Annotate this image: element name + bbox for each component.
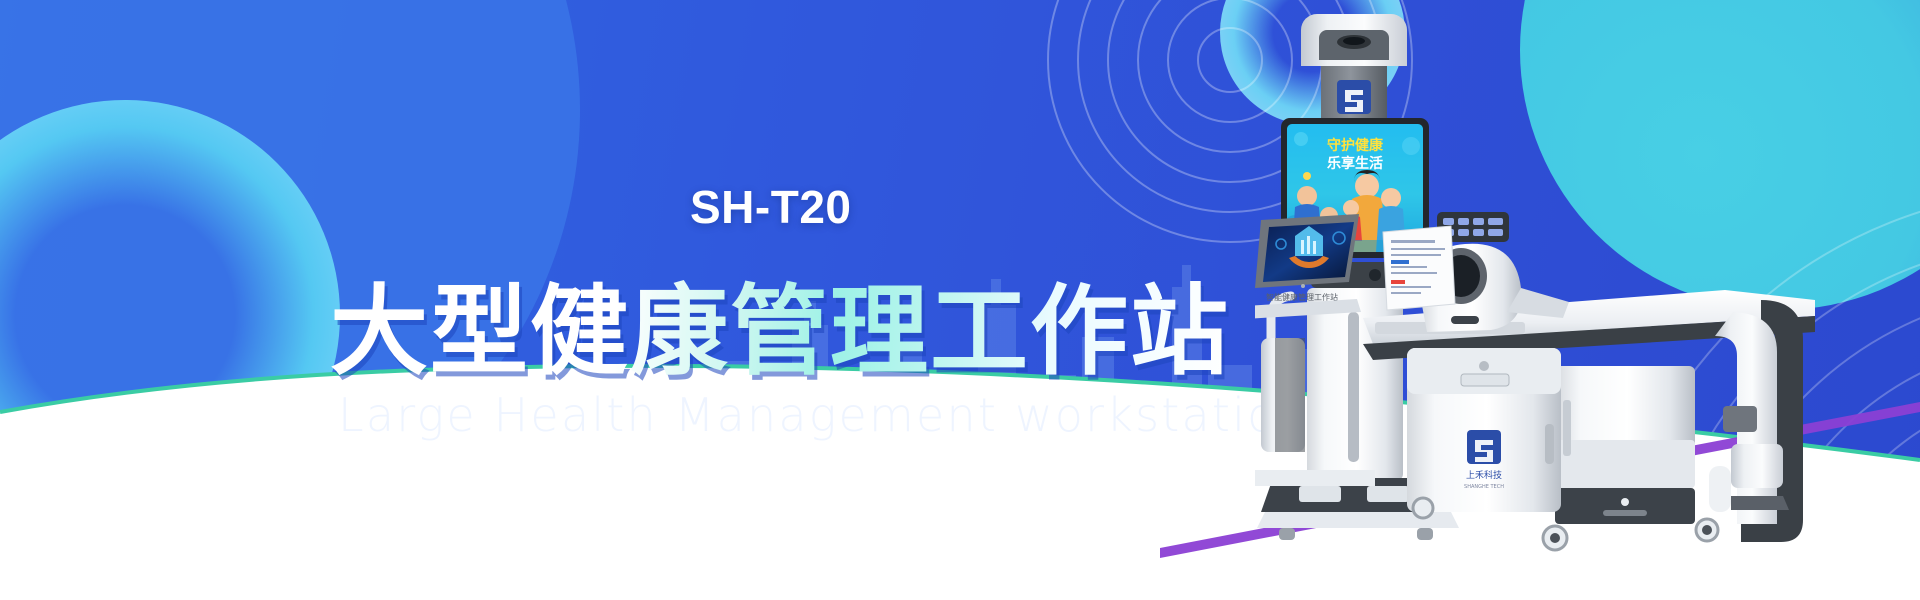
kiosk-ad-line2: 乐享生活 [1327,155,1383,172]
caster-wheel [1413,498,1433,518]
kiosk-ad-line1: 守护健康 [1327,137,1384,154]
laptop-bezel-label: 智能健康管理工作站 [1266,292,1338,302]
cabinet-with-logo: 上禾科技 SHANGHE TECH [1407,348,1561,512]
desk-cabinet [1555,366,1695,524]
printed-report-sheet [1383,226,1455,310]
model-code: SH-T20 [690,180,851,234]
product-hero-banner: SH-T20 大型健康管理工作站 Large Health Management… [0,0,1920,600]
cabinet-brand-name: 上禾科技 [1466,469,1502,481]
headline-text-block: SH-T20 大型健康管理工作站 Large Health Management… [0,0,1100,600]
cabinet-brand-sub: SHANGHE TECH [1464,484,1504,490]
product-photo: 上禾科技 SHANGHE TECH 守护健康 乐享生活 [1255,0,1920,600]
page-title: 大型健康管理工作站 [330,252,1230,394]
page-subtitle: Large Health Management workstation [338,388,1309,442]
